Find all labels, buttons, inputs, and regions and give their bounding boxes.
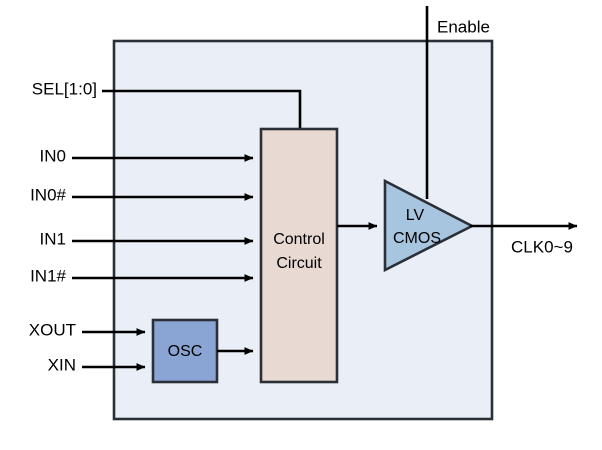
pin-enable-label: Enable	[437, 17, 490, 36]
control-circuit-label-line1: Control	[273, 231, 325, 248]
pin-xin-label: XIN	[48, 355, 76, 374]
control-circuit-label-line2: Circuit	[276, 255, 322, 272]
lv-cmos-label-line2: CMOS	[393, 230, 441, 247]
pin-clk-out-label: CLK0~9	[511, 237, 573, 256]
block-diagram: Enable SEL[1:0] IN0 IN0# IN1 IN1# XOUT X…	[0, 0, 602, 450]
osc-block-label: OSC	[168, 343, 203, 360]
pin-in1-bar-label: IN1#	[30, 266, 66, 285]
pin-in1-label: IN1	[40, 229, 66, 248]
block-diagram-canvas: Enable SEL[1:0] IN0 IN0# IN1 IN1# XOUT X…	[0, 0, 602, 450]
pin-in0-label: IN0	[40, 146, 66, 165]
pin-in0-bar-label: IN0#	[30, 185, 66, 204]
lv-cmos-label-line1: LV	[406, 207, 425, 224]
pin-xout-label: XOUT	[29, 320, 76, 339]
pin-sel-label: SEL[1:0]	[32, 79, 97, 98]
